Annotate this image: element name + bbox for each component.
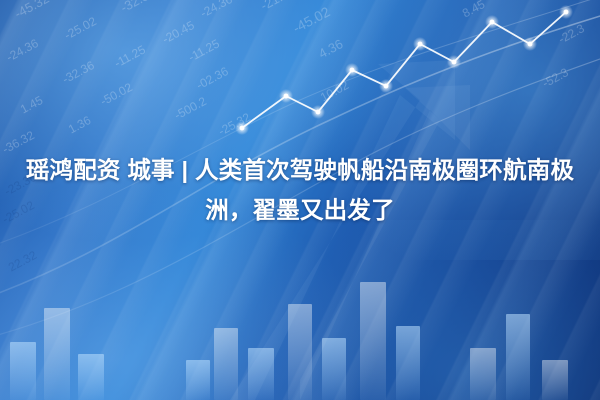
- trend-node-glow: [235, 121, 249, 135]
- background-number: -45.32: [12, 0, 52, 21]
- trend-node-glow: [447, 55, 461, 69]
- background-number: -02.36: [194, 64, 231, 92]
- trend-node-glow: [413, 37, 427, 51]
- trend-node: [384, 84, 389, 89]
- background-bar: [506, 314, 530, 400]
- background-number: -25.32: [216, 110, 253, 138]
- background-bar: [186, 360, 210, 400]
- background-number: 1.36: [66, 113, 93, 136]
- trend-node: [452, 60, 457, 65]
- trend-polyline: [242, 12, 566, 128]
- glow-wash-bottom-right: [250, 220, 600, 400]
- background-number: -45.02: [290, 3, 333, 36]
- background-bar: [360, 282, 386, 400]
- background-number: -20.45: [160, 18, 197, 46]
- background-bar: [78, 354, 104, 400]
- background-bar: [288, 304, 312, 400]
- trend-node-glow: [311, 105, 325, 119]
- background-number: -11.25: [186, 36, 222, 64]
- background-number: 4.36: [316, 36, 345, 61]
- background-bar: [44, 308, 70, 400]
- background-number: 8.45: [460, 0, 487, 20]
- banner-image: -45.32-25.02-24.36-32.361.451.36-36.32-2…: [0, 0, 600, 400]
- background-number: 10.02: [318, 78, 351, 104]
- trend-node-glow: [559, 5, 573, 19]
- trend-node: [418, 42, 423, 47]
- trend-node-glow: [523, 37, 537, 51]
- background-number: -52.3: [540, 65, 571, 90]
- big-arrow-shape: [230, 60, 470, 400]
- page-title: 瑶鸿配资 城事 | 人类首次驾驶帆船沿南极圈环航南极洲，翟墨又出发了: [16, 150, 584, 230]
- background-number: -50.02: [98, 80, 135, 108]
- background-bar: [214, 328, 238, 400]
- trend-node-glow: [485, 15, 499, 29]
- trend-node: [284, 94, 289, 99]
- background-bar: [10, 342, 36, 400]
- headline-block: 瑶鸿配资 城事 | 人类首次驾驶帆船沿南极圈环航南极洲，翟墨又出发了: [0, 150, 600, 230]
- background-number: -21.36: [258, 0, 298, 13]
- background-number: -22.3: [556, 21, 587, 46]
- trend-node: [316, 110, 321, 115]
- trend-node: [528, 42, 533, 47]
- background-bar: [542, 360, 568, 400]
- background-number: -24.36: [4, 36, 41, 64]
- background-number: 22.32: [6, 248, 39, 274]
- background-bar: [396, 326, 420, 400]
- background-number: 1.45: [18, 93, 45, 116]
- background-number: -11.25: [112, 42, 148, 70]
- trend-node-glow: [279, 89, 293, 103]
- background-number: -500.2: [172, 94, 209, 122]
- trend-node: [490, 20, 495, 25]
- background-bar: [248, 348, 274, 400]
- trend-nodes: [235, 5, 573, 135]
- trend-node-glow: [345, 63, 359, 77]
- trend-node: [350, 68, 355, 73]
- background-number: -25.02: [62, 14, 99, 42]
- trend-node-glow: [379, 79, 393, 93]
- trend-node: [564, 10, 569, 15]
- trend-node: [240, 126, 245, 131]
- background-number: -32.36: [118, 0, 158, 15]
- background-bar: [470, 348, 496, 400]
- background-bar: [322, 338, 346, 400]
- background-number: -24.36: [198, 0, 235, 20]
- background-number: -32.36: [60, 58, 97, 86]
